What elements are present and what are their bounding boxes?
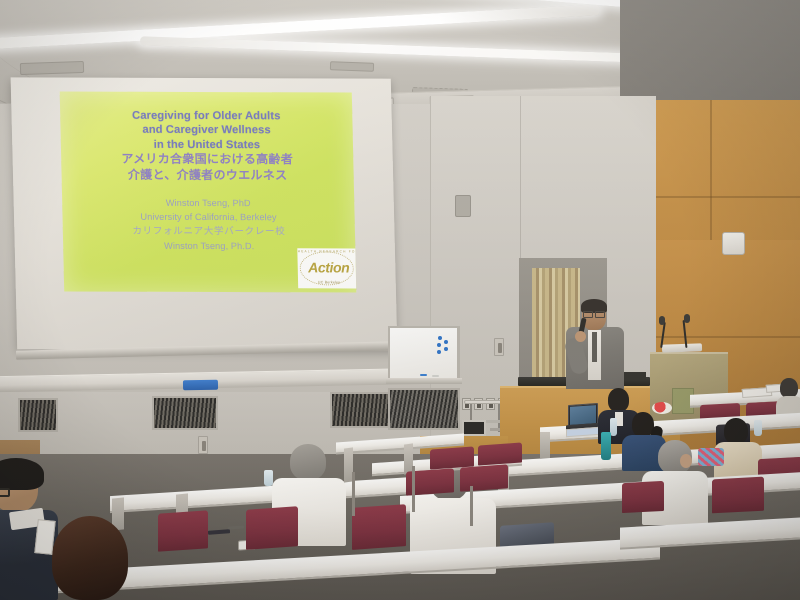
cable xyxy=(470,404,472,420)
magnet-icon xyxy=(437,350,441,354)
whiteboard-marker-tray xyxy=(386,378,462,384)
glasses-icon xyxy=(583,311,605,316)
slide-affiliation-jp: カリフォルニア大学バークレー校 xyxy=(132,224,285,239)
ceiling-vent xyxy=(330,61,374,72)
presenter-hand xyxy=(575,331,586,342)
desk-leg xyxy=(470,486,473,526)
wifi-access-point-icon xyxy=(722,232,745,255)
slide-affiliation: University of California, Berkeley xyxy=(140,210,277,225)
seat[interactable] xyxy=(352,504,406,550)
seat[interactable] xyxy=(712,477,764,514)
ear xyxy=(680,454,692,468)
whiteboard xyxy=(388,326,460,380)
wall-vent-grille xyxy=(18,398,58,432)
water-bottle[interactable] xyxy=(264,470,273,486)
action-logo: HEALTH RESEARCH FOR Action UC Berkeley xyxy=(297,248,356,288)
wall-equipment-box xyxy=(462,420,486,436)
slide-author: Winston Tseng, PhD xyxy=(166,196,251,211)
logo-arc-text: HEALTH RESEARCH FOR xyxy=(297,249,356,253)
lecture-hall-photo: Caregiving for Older Adults and Caregive… xyxy=(0,0,800,600)
desk-leg xyxy=(352,472,355,516)
seat[interactable] xyxy=(430,446,474,469)
slide-title-jp-line-1: アメリカ合衆国における高齢者 xyxy=(121,152,293,168)
slide-title-line-3: in the United States xyxy=(154,137,261,152)
glasses-icon xyxy=(0,488,10,497)
desk-side-panel xyxy=(540,432,550,458)
eraser-icon xyxy=(432,375,439,377)
seat[interactable] xyxy=(460,464,508,491)
floral-hair-accessory xyxy=(652,402,672,414)
ceiling-access-panel xyxy=(20,61,84,75)
head xyxy=(608,388,629,412)
magnet-icon xyxy=(444,340,448,344)
seat[interactable] xyxy=(478,442,522,465)
desk-leg xyxy=(412,466,415,512)
head xyxy=(290,444,326,480)
head xyxy=(52,516,128,600)
presentation-slide: Caregiving for Older Adults and Caregive… xyxy=(60,92,357,293)
head xyxy=(780,378,798,398)
magnet-icon xyxy=(437,343,441,347)
wall-switch-plate xyxy=(198,436,208,454)
presenter-tie xyxy=(592,332,597,362)
slide-title-line-2: and Caregiver Wellness xyxy=(142,123,271,138)
wall-speaker xyxy=(455,195,471,217)
slide-title-jp-line-2: 介護と、介護者のウエルネス xyxy=(128,167,288,183)
microphone-icon xyxy=(684,314,690,323)
wall-vent-grille xyxy=(152,396,218,430)
seat[interactable] xyxy=(246,506,298,550)
patterned-fabric xyxy=(698,448,724,466)
magnet-icon xyxy=(444,347,448,351)
slide-author-repeat: Winston Tseng, Ph.D. xyxy=(164,239,255,254)
water-bottle[interactable] xyxy=(610,418,617,436)
blue-object-on-ledge xyxy=(183,380,218,391)
logo-subtext: UC Berkeley xyxy=(298,280,356,284)
seat[interactable] xyxy=(158,510,208,551)
microphone-icon xyxy=(659,316,665,325)
wall-vent-grille xyxy=(388,388,460,430)
papers-on-lectern xyxy=(662,343,702,352)
slide-title-line-1: Caregiving for Older Adults xyxy=(132,109,281,124)
water-bottle[interactable] xyxy=(754,420,762,436)
head xyxy=(724,418,748,444)
magnet-icon xyxy=(438,336,442,340)
wall-switch-plate xyxy=(494,338,504,356)
teal-water-bottle[interactable] xyxy=(601,432,611,460)
seat[interactable] xyxy=(622,481,664,513)
marker-icon xyxy=(420,374,427,376)
papers-held xyxy=(34,519,55,555)
hair xyxy=(0,458,44,490)
